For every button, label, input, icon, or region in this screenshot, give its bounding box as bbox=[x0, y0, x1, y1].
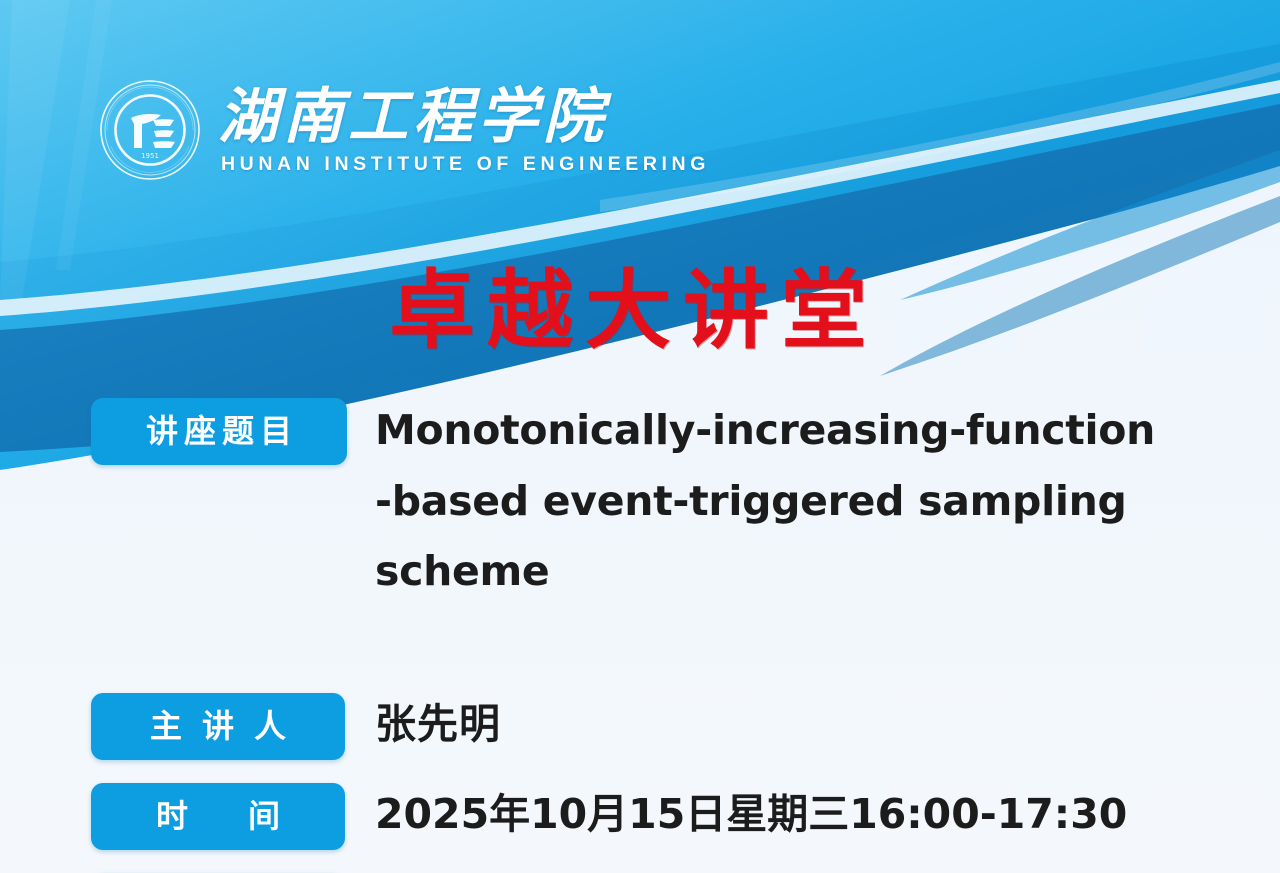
time-value: 2025年10月15日星期三16:00-17:30 bbox=[375, 783, 1127, 847]
university-name-cn: 湖南工程学院 bbox=[218, 86, 710, 150]
label-chip-lecture-title: 讲座题目 bbox=[91, 398, 347, 465]
lecture-title-line-1: Monotonically-increasing-function bbox=[375, 395, 1215, 466]
info-row-time: 时间 2025年10月15日星期三16:00-17:30 bbox=[0, 783, 1280, 850]
label-chip-speaker: 主讲人 bbox=[91, 693, 345, 760]
poster-main-title: 卓越大讲堂 bbox=[0, 268, 1280, 354]
info-row-lecture-title: 讲座题目 Monotonically-increasing-function -… bbox=[0, 398, 1280, 607]
info-row-speaker: 主讲人 张先明 bbox=[0, 693, 1280, 760]
speaker-value: 张先明 bbox=[375, 693, 501, 757]
university-name-en: HUNAN INSTITUTE OF ENGINEERING bbox=[221, 153, 710, 176]
lecture-poster: 1951 湖南工程学院 HUNAN INSTITUTE OF ENGINEERI… bbox=[0, 0, 1280, 873]
poster-info-list: 讲座题目 Monotonically-increasing-function -… bbox=[0, 398, 1280, 873]
lecture-title-line-2: -based event-triggered sampling scheme bbox=[375, 466, 1215, 607]
university-brand: 1951 湖南工程学院 HUNAN INSTITUTE OF ENGINEERI… bbox=[98, 78, 710, 182]
label-chip-time: 时间 bbox=[91, 783, 345, 850]
lecture-title-value: Monotonically-increasing-function -based… bbox=[375, 395, 1215, 607]
svg-text:1951: 1951 bbox=[141, 152, 159, 160]
university-crest-icon: 1951 bbox=[98, 78, 202, 182]
main-title-text: 卓越大讲堂 bbox=[389, 268, 891, 354]
